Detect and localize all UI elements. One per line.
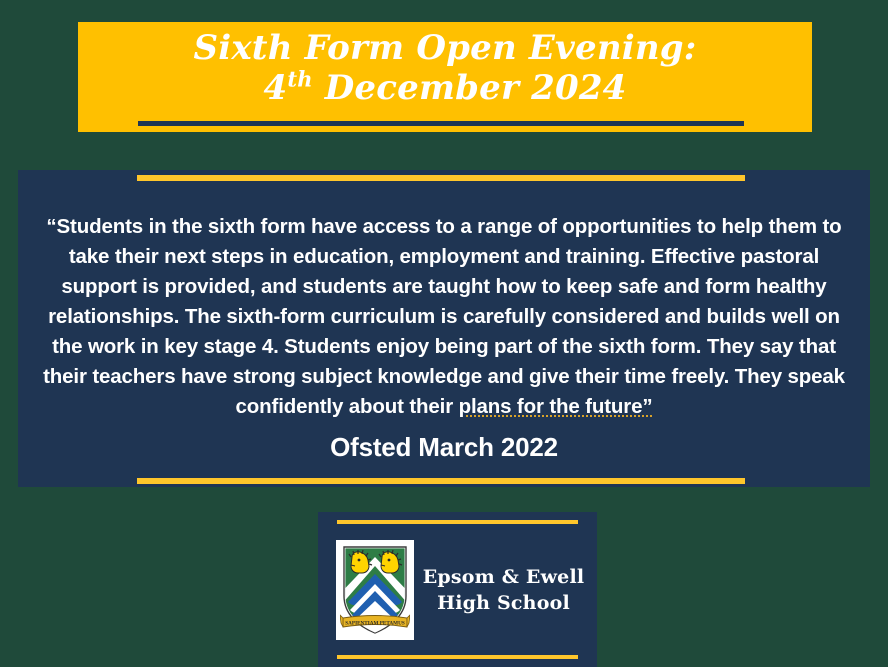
- title-day-ordinal-suffix: th: [287, 67, 312, 92]
- motto-text: SAPIENTIAM PETAMUS: [345, 621, 405, 627]
- logo-rule-top: [337, 520, 578, 524]
- quote-attribution: Ofsted March 2022: [32, 430, 856, 464]
- school-logo-box: SAPIENTIAM PETAMUS Epsom & Ewell High Sc…: [318, 512, 597, 667]
- logo-rule-bottom: [337, 655, 578, 659]
- motto-scroll: SAPIENTIAM PETAMUS: [340, 615, 410, 627]
- title-underline-rule: [138, 121, 744, 126]
- ofsted-quote-box: “Students in the sixth form have access …: [18, 170, 870, 487]
- quote-rule-top: [137, 175, 745, 181]
- school-name-line-1: Epsom & Ewell: [418, 564, 589, 590]
- title-line-1: Sixth Form Open Evening:: [108, 28, 782, 68]
- quote-rule-bottom: [137, 478, 745, 484]
- title-banner: Sixth Form Open Evening: 4th December 20…: [78, 22, 812, 132]
- title-date-rest: December 2024: [313, 68, 627, 108]
- quote-spellcheck-text: plans for the future”: [459, 395, 653, 418]
- quote-text-block: “Students in the sixth form have access …: [32, 212, 856, 464]
- school-crest-icon: SAPIENTIAM PETAMUS: [336, 540, 414, 640]
- logo-inner-row: SAPIENTIAM PETAMUS Epsom & Ewell High Sc…: [318, 534, 597, 646]
- quote-body-text: “Students in the sixth form have access …: [43, 215, 845, 418]
- school-name-line-2: High School: [418, 590, 589, 616]
- school-name-text: Epsom & Ewell High School: [414, 564, 597, 616]
- title-day-number: 4: [263, 68, 287, 108]
- title-line-2: 4th December 2024: [108, 68, 782, 108]
